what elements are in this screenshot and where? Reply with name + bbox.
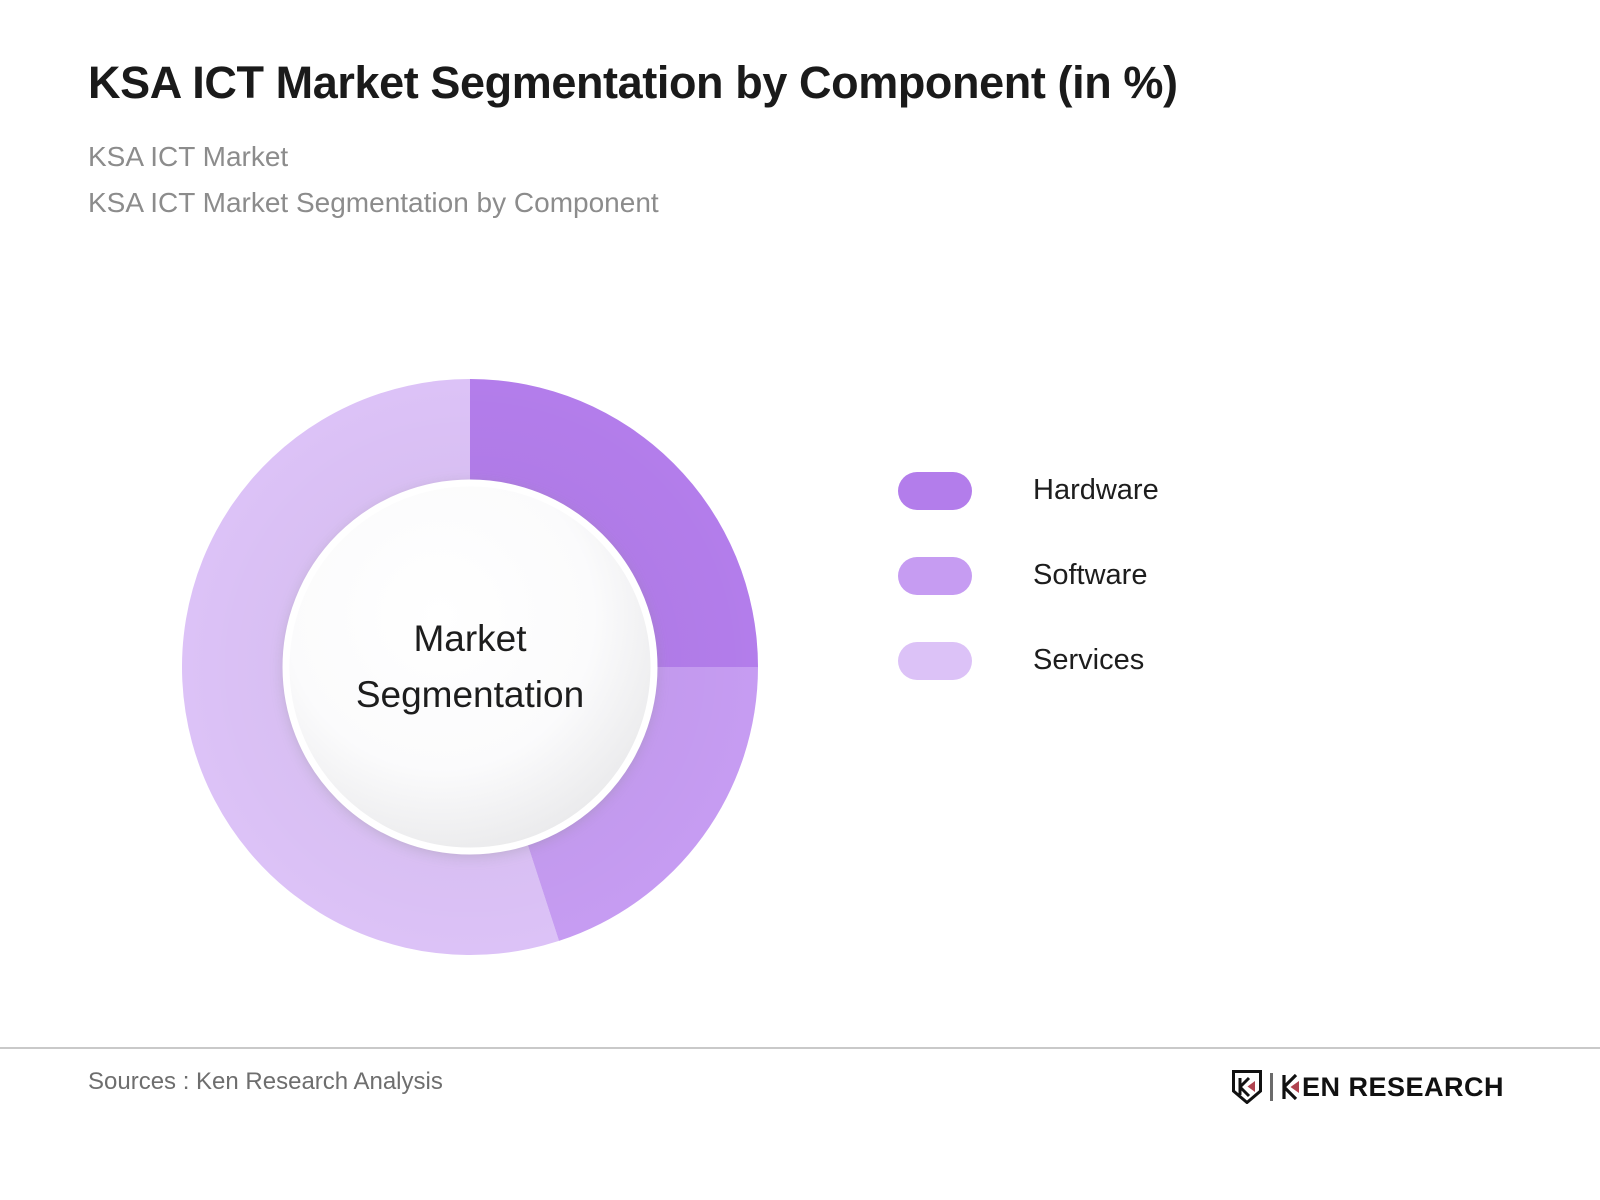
ken-research-wordmark: EN RESEARCH bbox=[1282, 1074, 1504, 1101]
logo-divider bbox=[1270, 1073, 1273, 1101]
ken-research-logo: EN RESEARCH bbox=[1232, 1070, 1504, 1104]
wordmark-text: EN RESEARCH bbox=[1302, 1074, 1504, 1101]
legend-label-software: Software bbox=[1033, 559, 1147, 592]
legend-label-services: Services bbox=[1033, 644, 1144, 677]
legend-label-hardware: Hardware bbox=[1033, 474, 1159, 507]
legend-item-software[interactable]: Software bbox=[898, 533, 1338, 618]
source-note: Sources : Ken Research Analysis bbox=[88, 1068, 443, 1096]
donut-chart: Market Segmentation bbox=[182, 379, 758, 955]
breadcrumb-segmentation: KSA ICT Market Segmentation by Component bbox=[88, 180, 1508, 225]
legend-swatch-hardware bbox=[898, 472, 972, 510]
legend-item-services[interactable]: Services bbox=[898, 618, 1338, 703]
chart-area: Market Segmentation Hardware Software Se… bbox=[0, 300, 1600, 1040]
subtitle-block: KSA ICT Market KSA ICT Market Segmentati… bbox=[88, 134, 1508, 225]
chart-legend: Hardware Software Services bbox=[898, 448, 1338, 703]
ken-research-shield-icon bbox=[1232, 1070, 1262, 1104]
breadcrumb-market: KSA ICT Market bbox=[88, 134, 1508, 179]
legend-swatch-software bbox=[898, 557, 972, 595]
wordmark-k-glyph bbox=[1282, 1074, 1302, 1100]
footer-divider bbox=[0, 1047, 1600, 1049]
page-title: KSA ICT Market Segmentation by Component… bbox=[88, 58, 1508, 108]
legend-swatch-services bbox=[898, 642, 972, 680]
legend-item-hardware[interactable]: Hardware bbox=[898, 448, 1338, 533]
header: KSA ICT Market Segmentation by Component… bbox=[88, 58, 1508, 225]
slide-canvas: KSA ICT Market Segmentation by Component… bbox=[0, 0, 1600, 1200]
donut-chart-svg bbox=[182, 379, 758, 955]
